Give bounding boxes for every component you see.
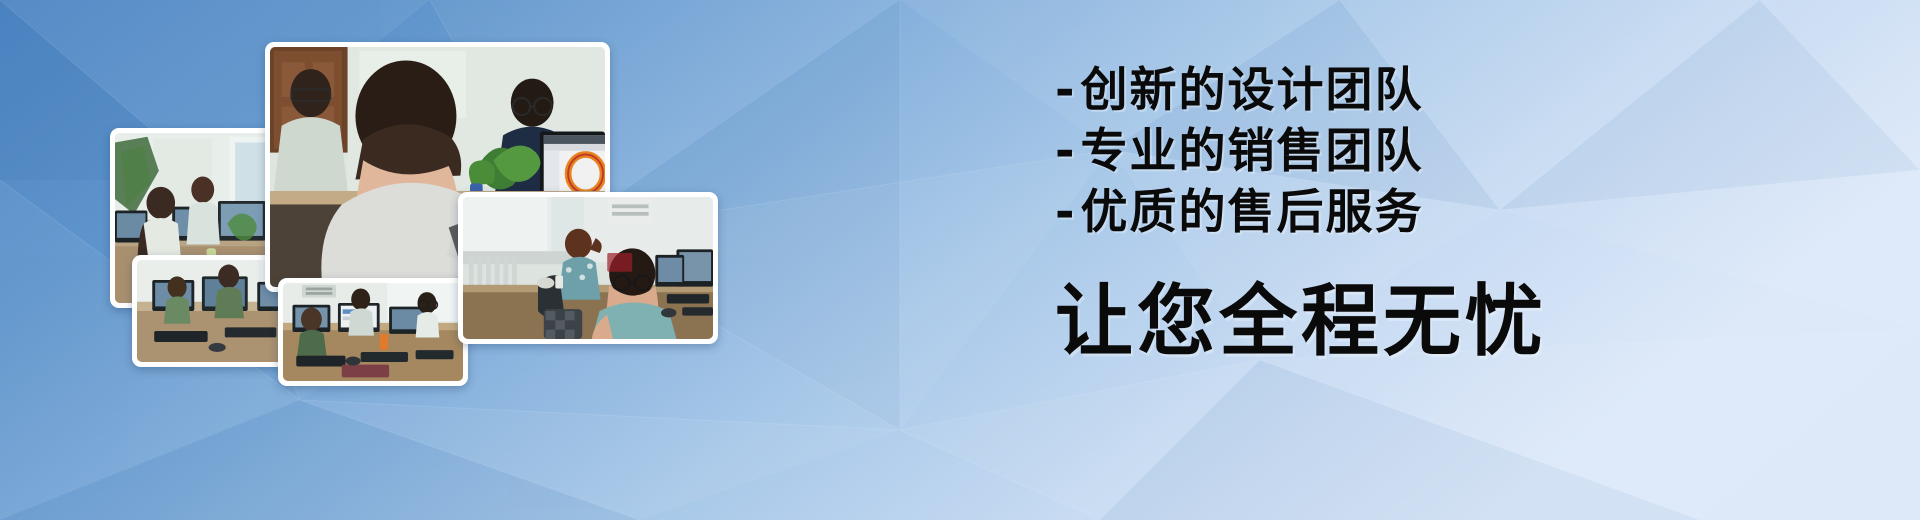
photo-team-workstations: [458, 192, 718, 344]
bullet-item-2: -专业的销售团队: [1055, 121, 1675, 182]
photo-designer-side-view: [278, 278, 468, 386]
marketing-text-block: -创新的设计团队 -专业的销售团队 -优质的售后服务 让您全程无忧: [1055, 60, 1675, 365]
bullet-label-2: 专业的销售团队: [1081, 124, 1424, 179]
bullet-dash-3: -: [1055, 182, 1077, 243]
photo-collage: [0, 0, 760, 520]
bullet-dash-1: -: [1055, 60, 1077, 121]
bullet-item-1: -创新的设计团队: [1055, 60, 1675, 121]
banner-headline: 让您全程无忧: [1055, 279, 1675, 365]
bullet-dash-2: -: [1055, 121, 1077, 182]
bullet-label-3: 优质的售后服务: [1081, 185, 1424, 240]
company-team-banner: -创新的设计团队 -专业的销售团队 -优质的售后服务 让您全程无忧: [0, 0, 1920, 520]
bullet-item-3: -优质的售后服务: [1055, 182, 1675, 243]
bullet-label-1: 创新的设计团队: [1081, 63, 1424, 118]
